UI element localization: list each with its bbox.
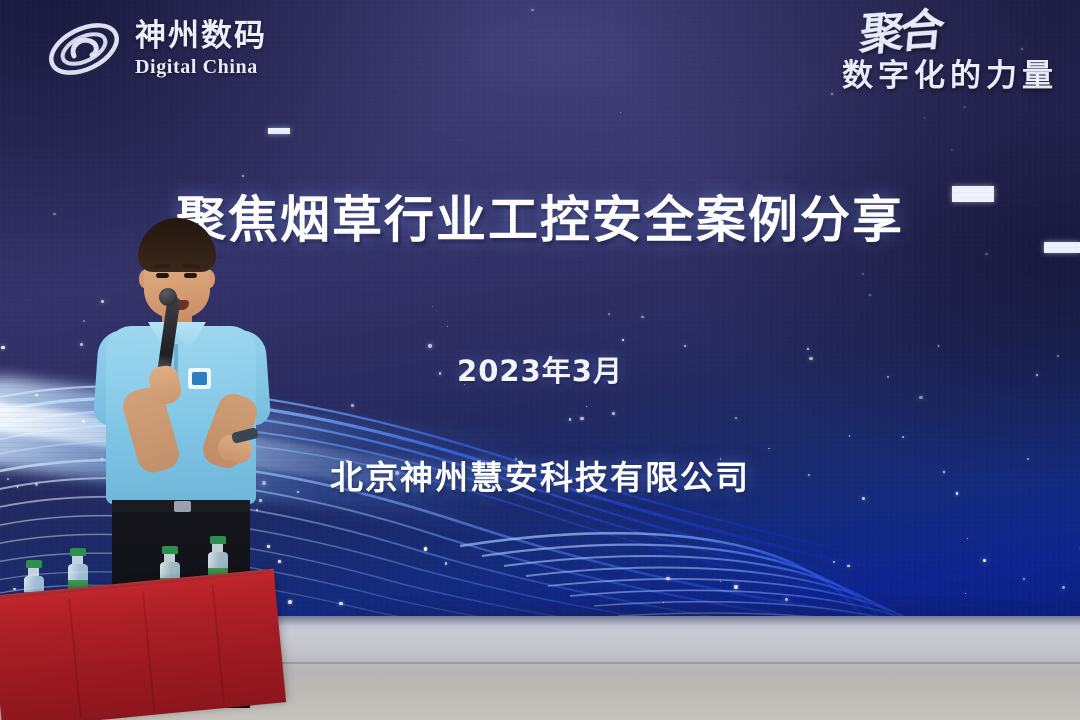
event-logo: 聚合 数字化的力量	[842, 14, 1058, 95]
led-strip-left	[268, 128, 290, 134]
speaker-eye-left	[156, 273, 169, 278]
digital-china-logo: 神州数码 Digital China	[44, 18, 267, 80]
red-tablecloth	[0, 573, 286, 720]
foreground-head-table	[0, 560, 300, 720]
brand-name-cn: 神州数码	[135, 21, 267, 52]
event-seal-text: 聚合	[840, 11, 942, 57]
speaker-belt-buckle	[174, 501, 191, 512]
presentation-photo: 神州数码 Digital China 聚合 数字化的力量 聚焦烟草行业工控安全案…	[0, 0, 1080, 720]
brand-name-en: Digital China	[135, 57, 267, 77]
digital-china-swirl-icon	[44, 18, 124, 80]
speaker-hair	[138, 218, 216, 272]
speaker-shirt-logo	[188, 368, 211, 389]
speaker-eye-right	[184, 273, 197, 278]
